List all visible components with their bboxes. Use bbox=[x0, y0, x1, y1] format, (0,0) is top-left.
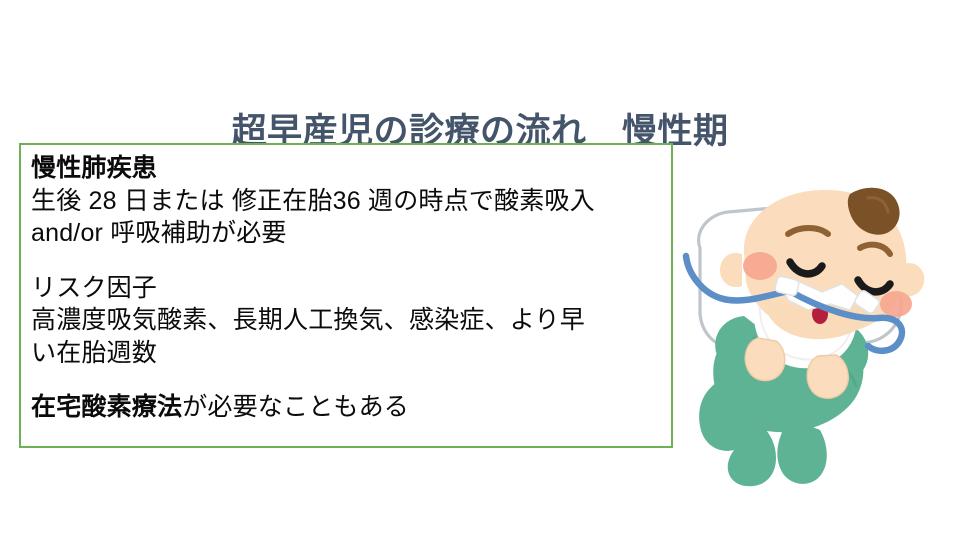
paragraph-spacer-1 bbox=[31, 250, 663, 272]
paragraph-risk-line-1: 高濃度吸気酸素、長期人工換気、感染症、より早 bbox=[31, 304, 663, 337]
content-box-text: 慢性肺疾患 生後 28 日または 修正在胎36 週の時点で酸素吸入 and/or… bbox=[31, 152, 663, 424]
content-box: 慢性肺疾患 生後 28 日または 修正在胎36 週の時点で酸素吸入 and/or… bbox=[19, 143, 673, 448]
final-line-bold-part: 在宅酸素療法 bbox=[31, 393, 182, 421]
paragraph-heading: 慢性肺疾患 bbox=[31, 152, 663, 185]
baby-with-nasal-cannula-illustration bbox=[672, 186, 960, 496]
paragraph-definition-line-1: 生後 28 日または 修正在胎36 週の時点で酸素吸入 bbox=[31, 185, 663, 218]
slide-canvas: 超早産児の診療の流れ 慢性期 慢性肺疾患 慢性肺疾患 生後 28 日または 修正… bbox=[0, 0, 960, 540]
paragraph-risk-heading: リスク因子 bbox=[31, 272, 663, 305]
paragraph-final-line: 在宅酸素療法が必要なこともある bbox=[31, 391, 663, 424]
paragraph-spacer-2 bbox=[31, 369, 663, 391]
paragraph-risk-line-2: い在胎週数 bbox=[31, 337, 663, 370]
paragraph-definition-line-2: and/or 呼吸補助が必要 bbox=[31, 217, 663, 250]
final-line-plain-part: が必要なこともある bbox=[182, 393, 409, 421]
